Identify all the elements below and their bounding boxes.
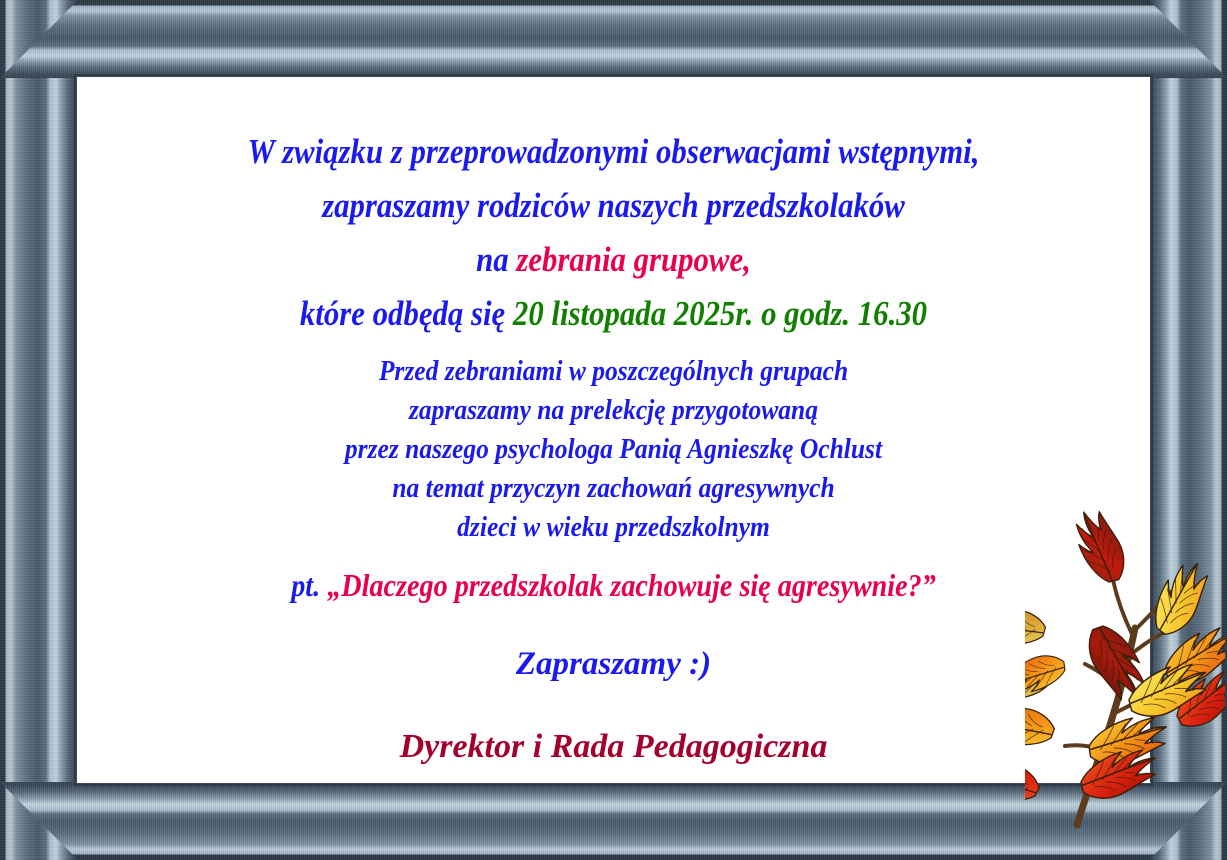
- poster: W związku z przeprowadzonymi obserwacjam…: [0, 0, 1227, 860]
- body-line-5: dzieci w wieku przedszkolnym: [141, 508, 1085, 547]
- closing-invitation-block: Zapraszamy :): [77, 642, 1150, 686]
- picture-frame-corner-bottom-right: [1149, 782, 1227, 860]
- picture-frame-corner-top-left: [0, 0, 78, 78]
- signature-block: Dyrektor i Rada Pedagogiczna: [77, 724, 1150, 770]
- meeting-type-highlight: zebrania grupowe,: [516, 240, 750, 279]
- intro-line-1: W związku z przeprowadzonymi obserwacjam…: [141, 125, 1085, 179]
- lecture-title-prefix: pt.: [291, 567, 327, 603]
- meeting-datetime: 20 listopada 2025r. o godz. 16.30: [513, 294, 927, 333]
- body-line-4: na temat przyczyn zachowań agresywnych: [141, 469, 1085, 508]
- picture-frame-right-rail: [1149, 0, 1227, 860]
- closing-invitation: Zapraszamy :): [77, 642, 1150, 686]
- intro-line-3: na zebrania grupowe,: [141, 233, 1085, 287]
- picture-frame-corner-bottom-left: [0, 782, 78, 860]
- signature-text: Dyrektor i Rada Pedagogiczna: [77, 724, 1150, 770]
- intro-line-3-prefix: na: [476, 240, 516, 279]
- announcement-intro-block: W związku z przeprowadzonymi obserwacjam…: [77, 125, 1150, 341]
- announcement-body-block: Przed zebraniami w poszczególnych grupac…: [77, 352, 1150, 547]
- announcement-paper: W związku z przeprowadzonymi obserwacjam…: [77, 77, 1150, 783]
- intro-line-4-prefix: które odbędą się: [300, 294, 513, 333]
- picture-frame-corner-top-right: [1149, 0, 1227, 78]
- intro-line-2: zapraszamy rodziców naszych przedszkolak…: [141, 179, 1085, 233]
- intro-line-4: które odbędą się 20 listopada 2025r. o g…: [141, 287, 1085, 341]
- lecture-title-line: pt. „Dlaczego przedszkolak zachowuje się…: [141, 564, 1085, 606]
- body-line-2: zapraszamy na prelekcję przygotowaną: [141, 391, 1085, 430]
- body-line-3-psychologist: przez naszego psychologa Panią Agnieszkę…: [141, 430, 1085, 469]
- lecture-title-text: „Dlaczego przedszkolak zachowuje się agr…: [327, 567, 936, 603]
- lecture-title-block: pt. „Dlaczego przedszkolak zachowuje się…: [77, 564, 1150, 606]
- picture-frame-left-rail: [0, 0, 78, 860]
- body-line-1: Przed zebraniami w poszczególnych grupac…: [141, 352, 1085, 391]
